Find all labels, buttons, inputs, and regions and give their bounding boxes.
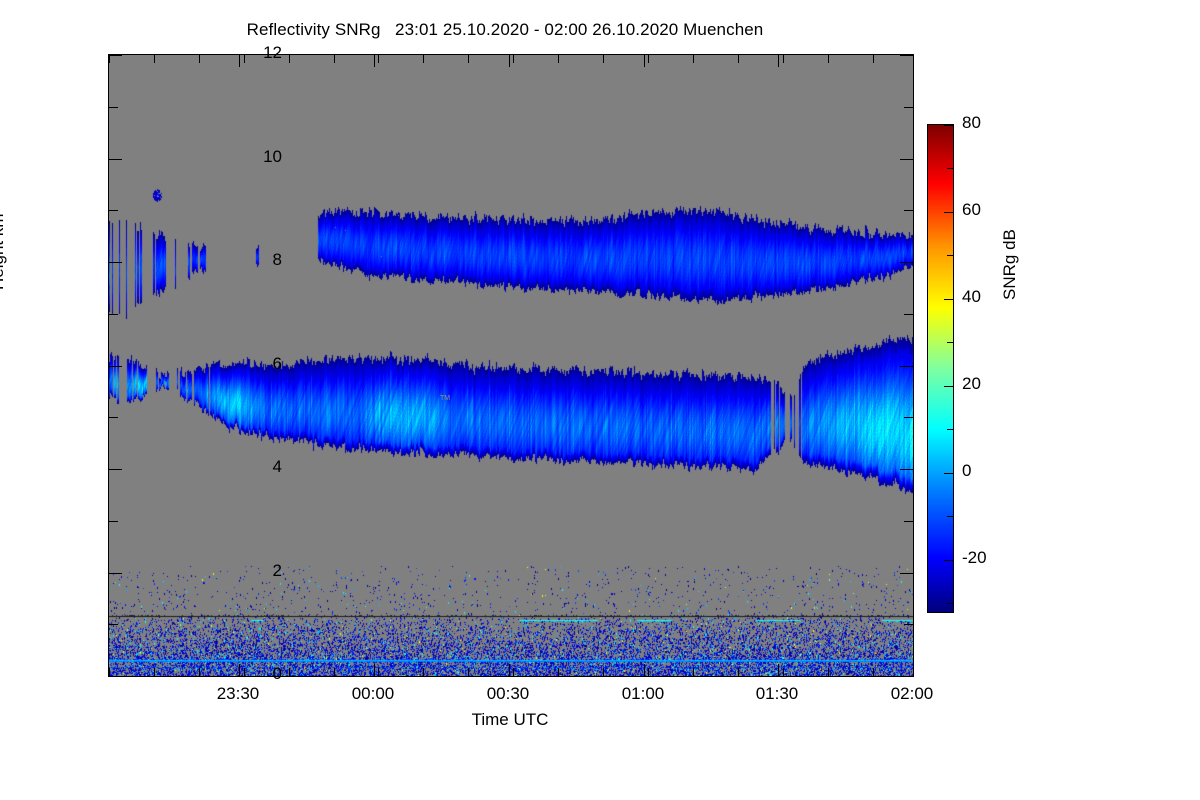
x-tick-minor [199, 668, 200, 676]
x-tick-minor [873, 668, 874, 676]
y-tick-label: 10 [202, 147, 282, 167]
y-tick [109, 159, 122, 160]
x-tick-label: 02:00 [867, 684, 957, 704]
x-tick-minor [648, 668, 649, 676]
y-tick-label: 0 [202, 664, 282, 684]
x-tick-major [509, 664, 510, 676]
x-tick-major-top [509, 55, 510, 67]
colorbar-tick [947, 516, 953, 517]
x-tick-label: 01:00 [598, 684, 688, 704]
y-tick-right [900, 159, 913, 160]
x-tick-minor-top [873, 55, 874, 63]
y-tick-right [904, 521, 913, 522]
x-tick-minor [289, 668, 290, 676]
y-tick [109, 624, 118, 625]
x-tick-major [644, 664, 645, 676]
colorbar-tick [947, 429, 953, 430]
x-tick-minor [513, 668, 514, 676]
x-tick-minor-top [378, 55, 379, 63]
y-tick [109, 210, 118, 211]
colorbar-tick-label: 0 [962, 461, 971, 481]
colorbar-tick [947, 168, 953, 169]
y-tick [109, 314, 118, 315]
x-tick-major [374, 664, 375, 676]
y-tick-right [900, 366, 913, 367]
y-tick-right [900, 469, 913, 470]
x-tick-minor-top [783, 55, 784, 63]
x-tick-minor-top [199, 55, 200, 63]
x-tick-minor [468, 668, 469, 676]
colorbar-tick [947, 342, 953, 343]
x-tick-minor [378, 668, 379, 676]
x-tick-minor [828, 668, 829, 676]
x-tick-minor [738, 668, 739, 676]
x-tick-major-top [913, 55, 914, 67]
x-tick-minor [109, 668, 110, 676]
y-tick-label: 2 [202, 561, 282, 581]
x-tick-label: 23:30 [193, 684, 283, 704]
x-tick-minor-top [109, 55, 110, 63]
colorbar-tick-label: -20 [962, 548, 987, 568]
colorbar-tick-label: 40 [962, 287, 981, 307]
y-tick-label: 6 [202, 354, 282, 374]
y-tick-right [900, 573, 913, 574]
y-tick-right [904, 107, 913, 108]
x-tick-minor-top [423, 55, 424, 63]
x-tick-minor-top [603, 55, 604, 63]
y-tick [109, 521, 118, 522]
x-tick-major-top [778, 55, 779, 67]
y-tick-label: 4 [202, 457, 282, 477]
x-tick-major-top [644, 55, 645, 67]
x-tick-minor-top [648, 55, 649, 63]
x-tick-minor-top [468, 55, 469, 63]
x-tick-minor [603, 668, 604, 676]
y-tick-right [904, 624, 913, 625]
x-tick-minor [154, 668, 155, 676]
x-tick-minor [334, 668, 335, 676]
y-tick [109, 55, 122, 56]
colorbar [927, 124, 954, 613]
y-tick-right [900, 55, 913, 56]
colorbar-tick-label: 60 [962, 200, 981, 220]
x-tick-minor [558, 668, 559, 676]
y-tick-right [900, 262, 913, 263]
x-tick-minor [693, 668, 694, 676]
x-tick-minor-top [828, 55, 829, 63]
colorbar-tick [944, 560, 953, 561]
x-tick-minor-top [693, 55, 694, 63]
colorbar-title: SNRg dB [1000, 229, 1020, 300]
colorbar-tick [944, 212, 953, 213]
y-tick-right [900, 676, 913, 677]
x-tick-minor [783, 668, 784, 676]
colorbar-tick [944, 299, 953, 300]
y-tick-label: 8 [202, 250, 282, 270]
colorbar-tick-label: 20 [962, 374, 981, 394]
y-tick [109, 573, 122, 574]
y-tick [109, 469, 122, 470]
colorbar-tick [947, 603, 953, 604]
colorbar-tick [944, 386, 953, 387]
figure-title: Reflectivity SNRg 23:01 25.10.2020 - 02:… [0, 20, 1010, 40]
x-tick-minor-top [558, 55, 559, 63]
x-tick-major-top [374, 55, 375, 67]
x-tick-minor-top [154, 55, 155, 63]
colorbar-tick [947, 255, 953, 256]
x-tick-minor-top [334, 55, 335, 63]
y-axis-title: Height km [0, 213, 8, 290]
x-tick-minor-top [513, 55, 514, 63]
y-tick-right [904, 417, 913, 418]
x-tick-major [778, 664, 779, 676]
colorbar-gradient [928, 125, 953, 612]
x-axis-title: Time UTC [108, 710, 912, 730]
y-tick [109, 262, 122, 263]
y-tick [109, 107, 118, 108]
radar-plot-figure: Reflectivity SNRg 23:01 25.10.2020 - 02:… [0, 0, 1200, 800]
x-tick-minor [423, 668, 424, 676]
colorbar-tick [944, 473, 953, 474]
y-tick [109, 417, 118, 418]
x-tick-label: 01:30 [732, 684, 822, 704]
x-tick-minor-top [738, 55, 739, 63]
y-tick-right [904, 210, 913, 211]
colorbar-tick [944, 125, 953, 126]
x-tick-minor-top [289, 55, 290, 63]
x-tick-label: 00:30 [463, 684, 553, 704]
x-tick-major [913, 664, 914, 676]
x-tick-label: 00:00 [328, 684, 418, 704]
y-tick-label: 12 [202, 43, 282, 63]
colorbar-tick-label: 80 [962, 113, 981, 133]
y-tick [109, 676, 122, 677]
y-tick [109, 366, 122, 367]
y-tick-right [904, 314, 913, 315]
